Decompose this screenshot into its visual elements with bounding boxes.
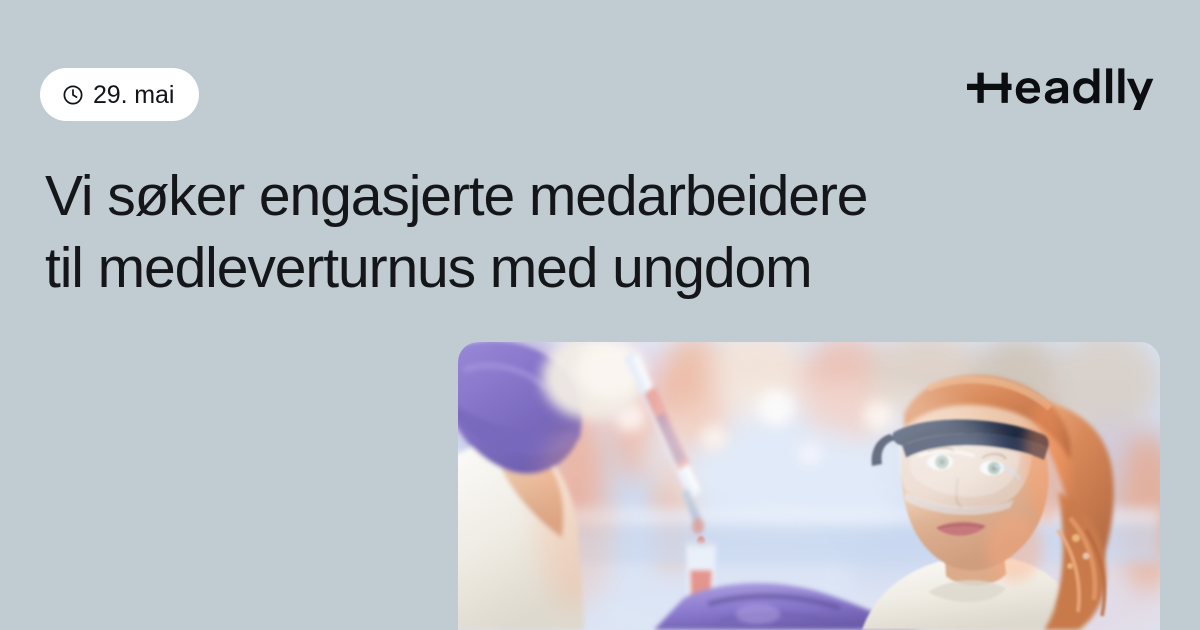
brand-logo[interactable]	[967, 64, 1160, 110]
hero-image	[458, 342, 1160, 630]
date-badge-label: 29. mai	[93, 83, 174, 108]
date-badge: 29. mai	[40, 68, 199, 121]
headline-line-2: til medleverturnus med ungdom	[45, 232, 1075, 304]
page-title: Vi søker engasjerte medarbeidere til med…	[45, 160, 1075, 304]
headline-line-1: Vi søker engasjerte medarbeidere	[45, 160, 1075, 232]
hero-image-canvas	[458, 342, 1160, 630]
top-bar: 29. mai	[0, 0, 1200, 160]
clock-icon	[62, 84, 84, 106]
